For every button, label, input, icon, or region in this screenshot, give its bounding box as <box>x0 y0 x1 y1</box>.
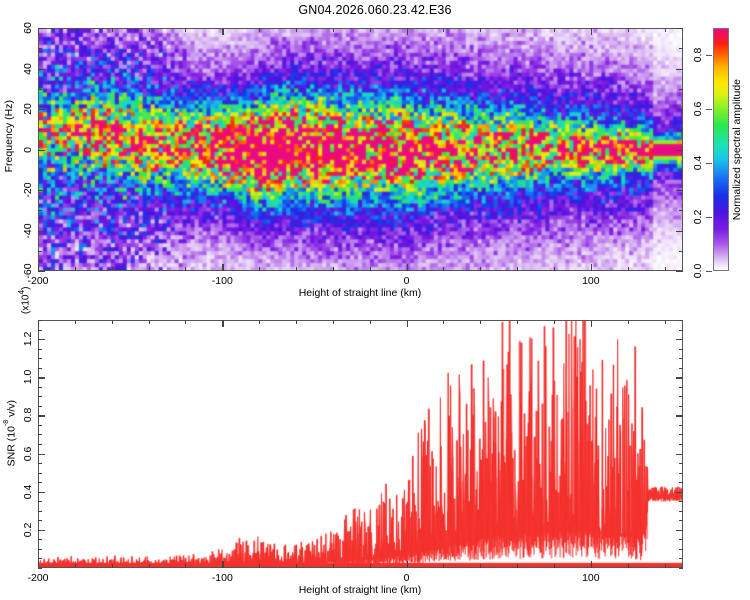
x-minor-tick <box>259 564 260 568</box>
y-major-tick <box>38 150 45 151</box>
x-major-tick <box>407 264 408 271</box>
y-major-tick <box>38 530 45 531</box>
y-minor-tick <box>38 425 42 426</box>
y-tick-label: 0.4 <box>22 484 34 499</box>
x-minor-tick <box>554 28 555 32</box>
x-minor-tick <box>517 267 518 271</box>
y-tick-label: 20 <box>22 103 34 115</box>
colorbar-tick-label: 0.0 <box>692 264 706 279</box>
x-major-tick <box>407 561 408 568</box>
x-minor-tick <box>480 28 481 32</box>
y-minor-tick <box>679 48 683 49</box>
x-minor-tick <box>443 320 444 324</box>
y-minor-tick <box>679 520 683 521</box>
y-minor-tick <box>38 349 42 350</box>
colorbar-tick-label: 0.8 <box>692 48 706 63</box>
y-major-tick <box>676 28 683 29</box>
x-tick-label: -100 <box>212 275 233 287</box>
x-major-tick <box>591 561 592 568</box>
y-minor-tick <box>679 349 683 350</box>
y-minor-tick <box>38 501 42 502</box>
x-major-tick <box>222 320 223 327</box>
x-minor-tick <box>296 28 297 32</box>
y-major-tick <box>676 377 683 378</box>
colorbar-tick <box>706 109 712 110</box>
y-tick-label: -40 <box>22 223 34 238</box>
spectrogram-axes <box>38 28 683 271</box>
y-minor-tick <box>38 482 42 483</box>
colorbar-tick-label: 0.6 <box>692 102 706 117</box>
y-major-tick <box>676 415 683 416</box>
spectrogram-ylabel: Frequency (Hz) <box>3 100 15 172</box>
y-minor-tick <box>679 473 683 474</box>
x-minor-tick <box>333 28 334 32</box>
x-minor-tick <box>185 267 186 271</box>
x-minor-tick <box>112 564 113 568</box>
y-major-tick <box>676 454 683 455</box>
x-minor-tick <box>443 564 444 568</box>
y-major-tick <box>676 231 683 232</box>
spectrogram-plot-area <box>39 29 682 270</box>
x-major-tick <box>38 264 39 271</box>
x-minor-tick <box>259 267 260 271</box>
y-tick-label: 0.2 <box>22 523 34 538</box>
y-major-tick <box>38 415 45 416</box>
y-major-tick <box>38 28 45 29</box>
y-major-tick <box>38 454 45 455</box>
x-minor-tick <box>259 28 260 32</box>
y-minor-tick <box>38 539 42 540</box>
y-minor-tick <box>679 539 683 540</box>
y-major-tick <box>676 150 683 151</box>
snr-xlabel: Height of straight line (km) <box>299 584 422 596</box>
y-minor-tick <box>38 568 42 569</box>
x-minor-tick <box>628 267 629 271</box>
y-tick-label: 1.0 <box>22 370 34 385</box>
y-tick-label: 60 <box>22 22 34 34</box>
colorbar-tick <box>706 217 712 218</box>
y-minor-tick <box>679 251 683 252</box>
y-major-tick <box>38 492 45 493</box>
x-minor-tick <box>554 267 555 271</box>
x-major-tick <box>222 28 223 35</box>
y-major-tick <box>676 271 683 272</box>
y-major-tick <box>676 69 683 70</box>
x-minor-tick <box>370 267 371 271</box>
x-major-tick <box>38 320 39 327</box>
y-major-tick <box>676 109 683 110</box>
x-minor-tick <box>112 320 113 324</box>
x-minor-tick <box>296 320 297 324</box>
y-minor-tick <box>679 549 683 550</box>
x-major-tick <box>222 561 223 568</box>
y-minor-tick <box>679 425 683 426</box>
snr-ylabel: SNR (10-8 v/v) <box>3 400 18 466</box>
y-minor-tick <box>679 330 683 331</box>
y-minor-tick <box>679 210 683 211</box>
x-tick-label: 0 <box>404 572 410 584</box>
y-minor-tick <box>38 368 42 369</box>
y-major-tick <box>38 109 45 110</box>
y-minor-tick <box>38 89 42 90</box>
y-minor-tick <box>679 444 683 445</box>
y-minor-tick <box>679 89 683 90</box>
x-minor-tick <box>517 320 518 324</box>
figure-title: GN04.2026.060.23.42.E36 <box>0 3 750 17</box>
x-minor-tick <box>554 564 555 568</box>
y-tick-label: 0 <box>22 147 34 153</box>
y-minor-tick <box>679 170 683 171</box>
x-minor-tick <box>333 320 334 324</box>
y-minor-tick <box>38 434 42 435</box>
spectrogram-image <box>39 29 682 270</box>
x-minor-tick <box>333 564 334 568</box>
x-minor-tick <box>259 320 260 324</box>
x-minor-tick <box>112 28 113 32</box>
x-minor-tick <box>296 564 297 568</box>
x-minor-tick <box>149 564 150 568</box>
colorbar-tick-label: 0.2 <box>692 210 706 225</box>
y-major-tick <box>676 492 683 493</box>
y-minor-tick <box>38 251 42 252</box>
x-tick-label: -200 <box>27 572 48 584</box>
y-minor-tick <box>38 387 42 388</box>
colorbar-label: Normalized spectral amplitude <box>731 28 743 271</box>
y-minor-tick <box>38 511 42 512</box>
y-tick-label: -60 <box>22 263 34 278</box>
y-tick-label: -20 <box>22 182 34 197</box>
snr-axes <box>38 320 683 568</box>
x-major-tick <box>591 28 592 35</box>
y-minor-tick <box>38 444 42 445</box>
y-minor-tick <box>38 406 42 407</box>
x-minor-tick <box>75 564 76 568</box>
x-minor-tick <box>665 28 666 32</box>
y-minor-tick <box>679 568 683 569</box>
x-minor-tick <box>333 267 334 271</box>
y-tick-label: 0.8 <box>22 408 34 423</box>
x-major-tick <box>407 320 408 327</box>
figure-canvas: GN04.2026.060.23.42.E36 -200-1000100-60-… <box>0 0 750 600</box>
y-minor-tick <box>679 387 683 388</box>
x-minor-tick <box>185 320 186 324</box>
y-minor-tick <box>679 482 683 483</box>
y-minor-tick <box>38 330 42 331</box>
y-minor-tick <box>38 520 42 521</box>
y-tick-label: 40 <box>22 63 34 75</box>
x-minor-tick <box>185 28 186 32</box>
x-major-tick <box>38 561 39 568</box>
y-minor-tick <box>679 396 683 397</box>
y-minor-tick <box>38 170 42 171</box>
y-minor-tick <box>38 473 42 474</box>
x-tick-label: 0 <box>404 275 410 287</box>
x-minor-tick <box>149 28 150 32</box>
snr-trace <box>39 321 682 567</box>
x-minor-tick <box>480 320 481 324</box>
y-minor-tick <box>38 320 42 321</box>
x-minor-tick <box>517 28 518 32</box>
x-minor-tick <box>370 564 371 568</box>
x-tick-label: 100 <box>582 275 600 287</box>
x-minor-tick <box>480 267 481 271</box>
colorbar-gradient <box>713 28 729 271</box>
y-minor-tick <box>38 129 42 130</box>
y-minor-tick <box>679 358 683 359</box>
x-minor-tick <box>628 320 629 324</box>
y-major-tick <box>38 231 45 232</box>
y-minor-tick <box>38 558 42 559</box>
snr-y-multiplier: (x104) <box>16 287 31 314</box>
snr-ylabel-text: SNR (10-8 v/v) <box>6 400 18 466</box>
x-minor-tick <box>480 564 481 568</box>
x-minor-tick <box>149 320 150 324</box>
colorbar-tick <box>706 271 712 272</box>
x-minor-tick <box>112 267 113 271</box>
x-minor-tick <box>554 320 555 324</box>
y-minor-tick <box>679 406 683 407</box>
x-minor-tick <box>370 28 371 32</box>
y-minor-tick <box>679 129 683 130</box>
x-minor-tick <box>665 564 666 568</box>
y-minor-tick <box>38 210 42 211</box>
y-major-tick <box>38 69 45 70</box>
y-minor-tick <box>38 48 42 49</box>
colorbar-tick <box>706 55 712 56</box>
x-minor-tick <box>665 320 666 324</box>
x-minor-tick <box>628 564 629 568</box>
x-minor-tick <box>75 28 76 32</box>
y-minor-tick <box>679 320 683 321</box>
x-major-tick <box>407 28 408 35</box>
y-major-tick <box>38 190 45 191</box>
y-minor-tick <box>679 501 683 502</box>
colorbar-tick <box>706 163 712 164</box>
y-minor-tick <box>38 396 42 397</box>
y-tick-label: 0.6 <box>22 446 34 461</box>
y-major-tick <box>676 190 683 191</box>
spectrogram-xlabel: Height of straight line (km) <box>299 287 422 299</box>
x-minor-tick <box>185 564 186 568</box>
x-minor-tick <box>443 28 444 32</box>
y-minor-tick <box>38 463 42 464</box>
x-tick-label: -100 <box>212 572 233 584</box>
y-major-tick <box>38 339 45 340</box>
x-major-tick <box>222 264 223 271</box>
x-minor-tick <box>665 267 666 271</box>
x-major-tick <box>591 264 592 271</box>
x-major-tick <box>591 320 592 327</box>
x-minor-tick <box>75 267 76 271</box>
snr-plot-area <box>39 321 682 567</box>
x-minor-tick <box>370 320 371 324</box>
y-major-tick <box>38 377 45 378</box>
y-minor-tick <box>38 358 42 359</box>
x-minor-tick <box>443 267 444 271</box>
x-minor-tick <box>75 320 76 324</box>
y-tick-label: 1.2 <box>22 332 34 347</box>
y-minor-tick <box>679 463 683 464</box>
colorbar-tick-label: 0.4 <box>692 156 706 171</box>
x-minor-tick <box>628 28 629 32</box>
y-major-tick <box>676 530 683 531</box>
y-minor-tick <box>679 434 683 435</box>
x-minor-tick <box>149 267 150 271</box>
x-minor-tick <box>517 564 518 568</box>
y-major-tick <box>38 271 45 272</box>
y-minor-tick <box>679 368 683 369</box>
y-minor-tick <box>679 511 683 512</box>
x-tick-label: 100 <box>582 572 600 584</box>
x-minor-tick <box>296 267 297 271</box>
y-minor-tick <box>679 558 683 559</box>
y-minor-tick <box>38 549 42 550</box>
y-major-tick <box>676 339 683 340</box>
